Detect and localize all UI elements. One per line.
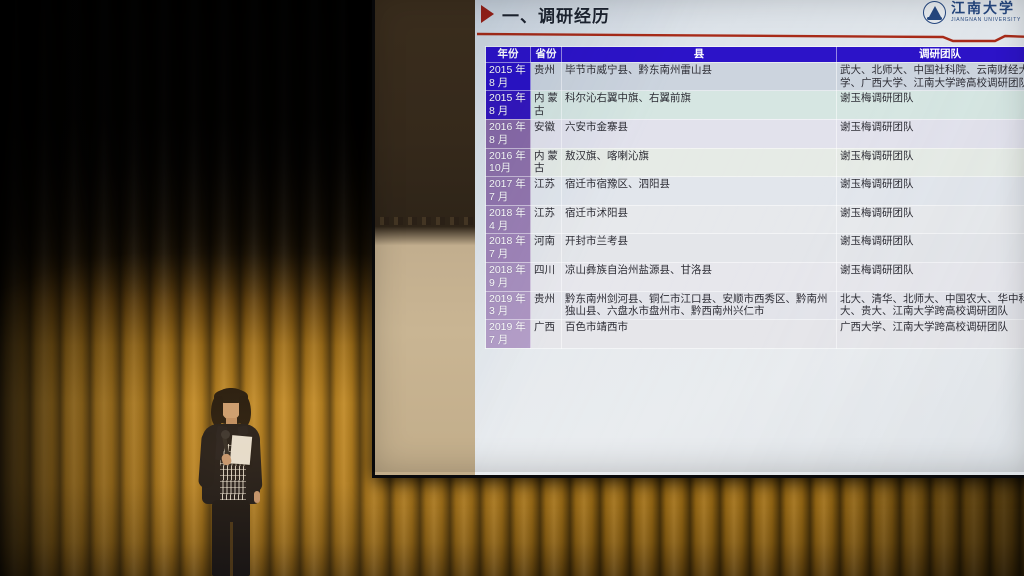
cell-year: 2015 年 8 月 (486, 62, 531, 91)
cell-year: 2018 年 7 月 (486, 234, 531, 263)
cell-county: 毕节市威宁县、黔东南州雷山县 (562, 62, 837, 91)
table-row: 2018 年 7 月河南开封市兰考县谢玉梅调研团队 (486, 234, 1024, 263)
cell-team: 武大、北师大、中国社科院、云南财经大学、广西大学、江南大学跨高校调研团队 (837, 62, 1024, 91)
cell-county: 宿迁市宿豫区、泗阳县 (562, 177, 837, 206)
logo-text-block: 江南大学 JIANGNAN UNIVERSITY (951, 2, 1021, 23)
cell-team: 谢玉梅调研团队 (837, 262, 1024, 291)
title-rule-shape (475, 31, 1024, 43)
cell-province: 贵州 (531, 62, 562, 91)
cell-province: 安徽 (531, 119, 562, 148)
cell-team: 谢玉梅调研团队 (837, 119, 1024, 148)
cell-year: 2017 年 7 月 (486, 177, 531, 206)
cell-year: 2016 年 10月 (486, 148, 531, 177)
cell-year: 2019 年 7 月 (486, 320, 531, 349)
cell-county: 宿迁市沭阳县 (562, 205, 837, 234)
cell-county: 凉山彝族自治州盐源县、甘洛县 (562, 262, 837, 291)
cell-province: 广西 (531, 320, 562, 349)
table-row: 2016 年 10月内 蒙 古敖汉旗、喀喇沁旗谢玉梅调研团队 (486, 148, 1024, 177)
logo-name-en: JIANGNAN UNIVERSITY (951, 18, 1021, 23)
col-header-province: 省份 (531, 47, 562, 63)
cell-province: 贵州 (531, 291, 562, 320)
title-underline-rule (475, 31, 1024, 43)
table-row: 2015 年 8 月贵州毕节市威宁县、黔东南州雷山县武大、北师大、中国社科院、云… (486, 62, 1024, 91)
cell-county: 黔东南州剑河县、铜仁市江口县、安顺市西秀区、黔南州独山县、六盘水市盘州市、黔西南… (562, 291, 837, 320)
screen-unlit-area (375, 0, 475, 475)
cell-team: 谢玉梅调研团队 (837, 234, 1024, 263)
presenter-leg-gap (230, 522, 233, 576)
cell-county: 百色市靖西市 (562, 320, 837, 349)
stage-scene: 一、调研经历 江南大学 JIANGNAN UNIVERSITY 年份 (0, 0, 1024, 576)
presenter-hand-right (254, 491, 260, 503)
cell-team: 北大、清华、北师大、中国农大、华中科大、贵大、江南大学跨高校调研团队 (837, 291, 1024, 320)
col-header-team: 调研团队 (837, 47, 1024, 63)
presentation-slide: 一、调研经历 江南大学 JIANGNAN UNIVERSITY 年份 (475, 0, 1024, 475)
cell-team: 广西大学、江南大学跨高校调研团队 (837, 320, 1024, 349)
cell-year: 2016 年 8 月 (486, 119, 531, 148)
cell-county: 科尔沁右翼中旗、右翼前旗 (562, 91, 837, 120)
cell-team: 谢玉梅调研团队 (837, 177, 1024, 206)
paper-notes (230, 435, 252, 465)
presenter-hair-left (211, 396, 223, 426)
cell-year: 2018 年 9 月 (486, 262, 531, 291)
table-head: 年份 省份 县 调研团队 (486, 47, 1024, 63)
table-row: 2015 年 8 月内 蒙 古科尔沁右翼中旗、右翼前旗谢玉梅调研团队 (486, 91, 1024, 120)
microphone-head-icon (221, 430, 230, 439)
page-title: 一、调研经历 (502, 2, 610, 27)
cell-province: 四川 (531, 262, 562, 291)
cell-province: 江苏 (531, 205, 562, 234)
red-triangle-icon (481, 5, 494, 23)
col-header-county: 县 (562, 47, 837, 63)
cell-year: 2019 年 3 月 (486, 291, 531, 320)
cell-province: 江苏 (531, 177, 562, 206)
cell-year: 2018 年 4 月 (486, 205, 531, 234)
cell-year: 2015 年 8 月 (486, 91, 531, 120)
cell-team: 谢玉梅调研团队 (837, 91, 1024, 120)
cell-team: 谢玉梅调研团队 (837, 148, 1024, 177)
cell-county: 开封市兰考县 (562, 234, 837, 263)
col-header-year: 年份 (486, 47, 531, 63)
table-header-row: 年份 省份 县 调研团队 (486, 47, 1024, 63)
cell-province: 河南 (531, 234, 562, 263)
table-row: 2017 年 7 月江苏宿迁市宿豫区、泗阳县谢玉梅调研团队 (486, 177, 1024, 206)
cell-province: 内 蒙 古 (531, 91, 562, 120)
table-row: 2019 年 3 月贵州黔东南州剑河县、铜仁市江口县、安顺市西秀区、黔南州独山县… (486, 291, 1024, 320)
table-body: 2015 年 8 月贵州毕节市威宁县、黔东南州雷山县武大、北师大、中国社科院、云… (486, 62, 1024, 348)
presenter-figure (188, 388, 274, 576)
table-row: 2016 年 8 月安徽六安市金寨县谢玉梅调研团队 (486, 119, 1024, 148)
jiangnan-university-logo-icon (923, 1, 946, 24)
logo-name-cn: 江南大学 (951, 2, 1021, 16)
projection-screen: 一、调研经历 江南大学 JIANGNAN UNIVERSITY 年份 (372, 0, 1024, 478)
cell-team: 谢玉梅调研团队 (837, 205, 1024, 234)
table-row: 2018 年 4 月江苏宿迁市沭阳县谢玉梅调研团队 (486, 205, 1024, 234)
cell-county: 六安市金寨县 (562, 119, 837, 148)
cell-province: 内 蒙 古 (531, 148, 562, 177)
presenter-hair-right (239, 396, 251, 426)
cell-county: 敖汉旗、喀喇沁旗 (562, 148, 837, 177)
table-row: 2018 年 9 月四川凉山彝族自治州盐源县、甘洛县谢玉梅调研团队 (486, 262, 1024, 291)
table-row: 2019 年 7 月广西百色市靖西市广西大学、江南大学跨高校调研团队 (486, 320, 1024, 349)
university-logo: 江南大学 JIANGNAN UNIVERSITY (923, 1, 1021, 24)
survey-history-table: 年份 省份 县 调研团队 2015 年 8 月贵州毕节市威宁县、黔东南州雷山县武… (485, 46, 1024, 349)
